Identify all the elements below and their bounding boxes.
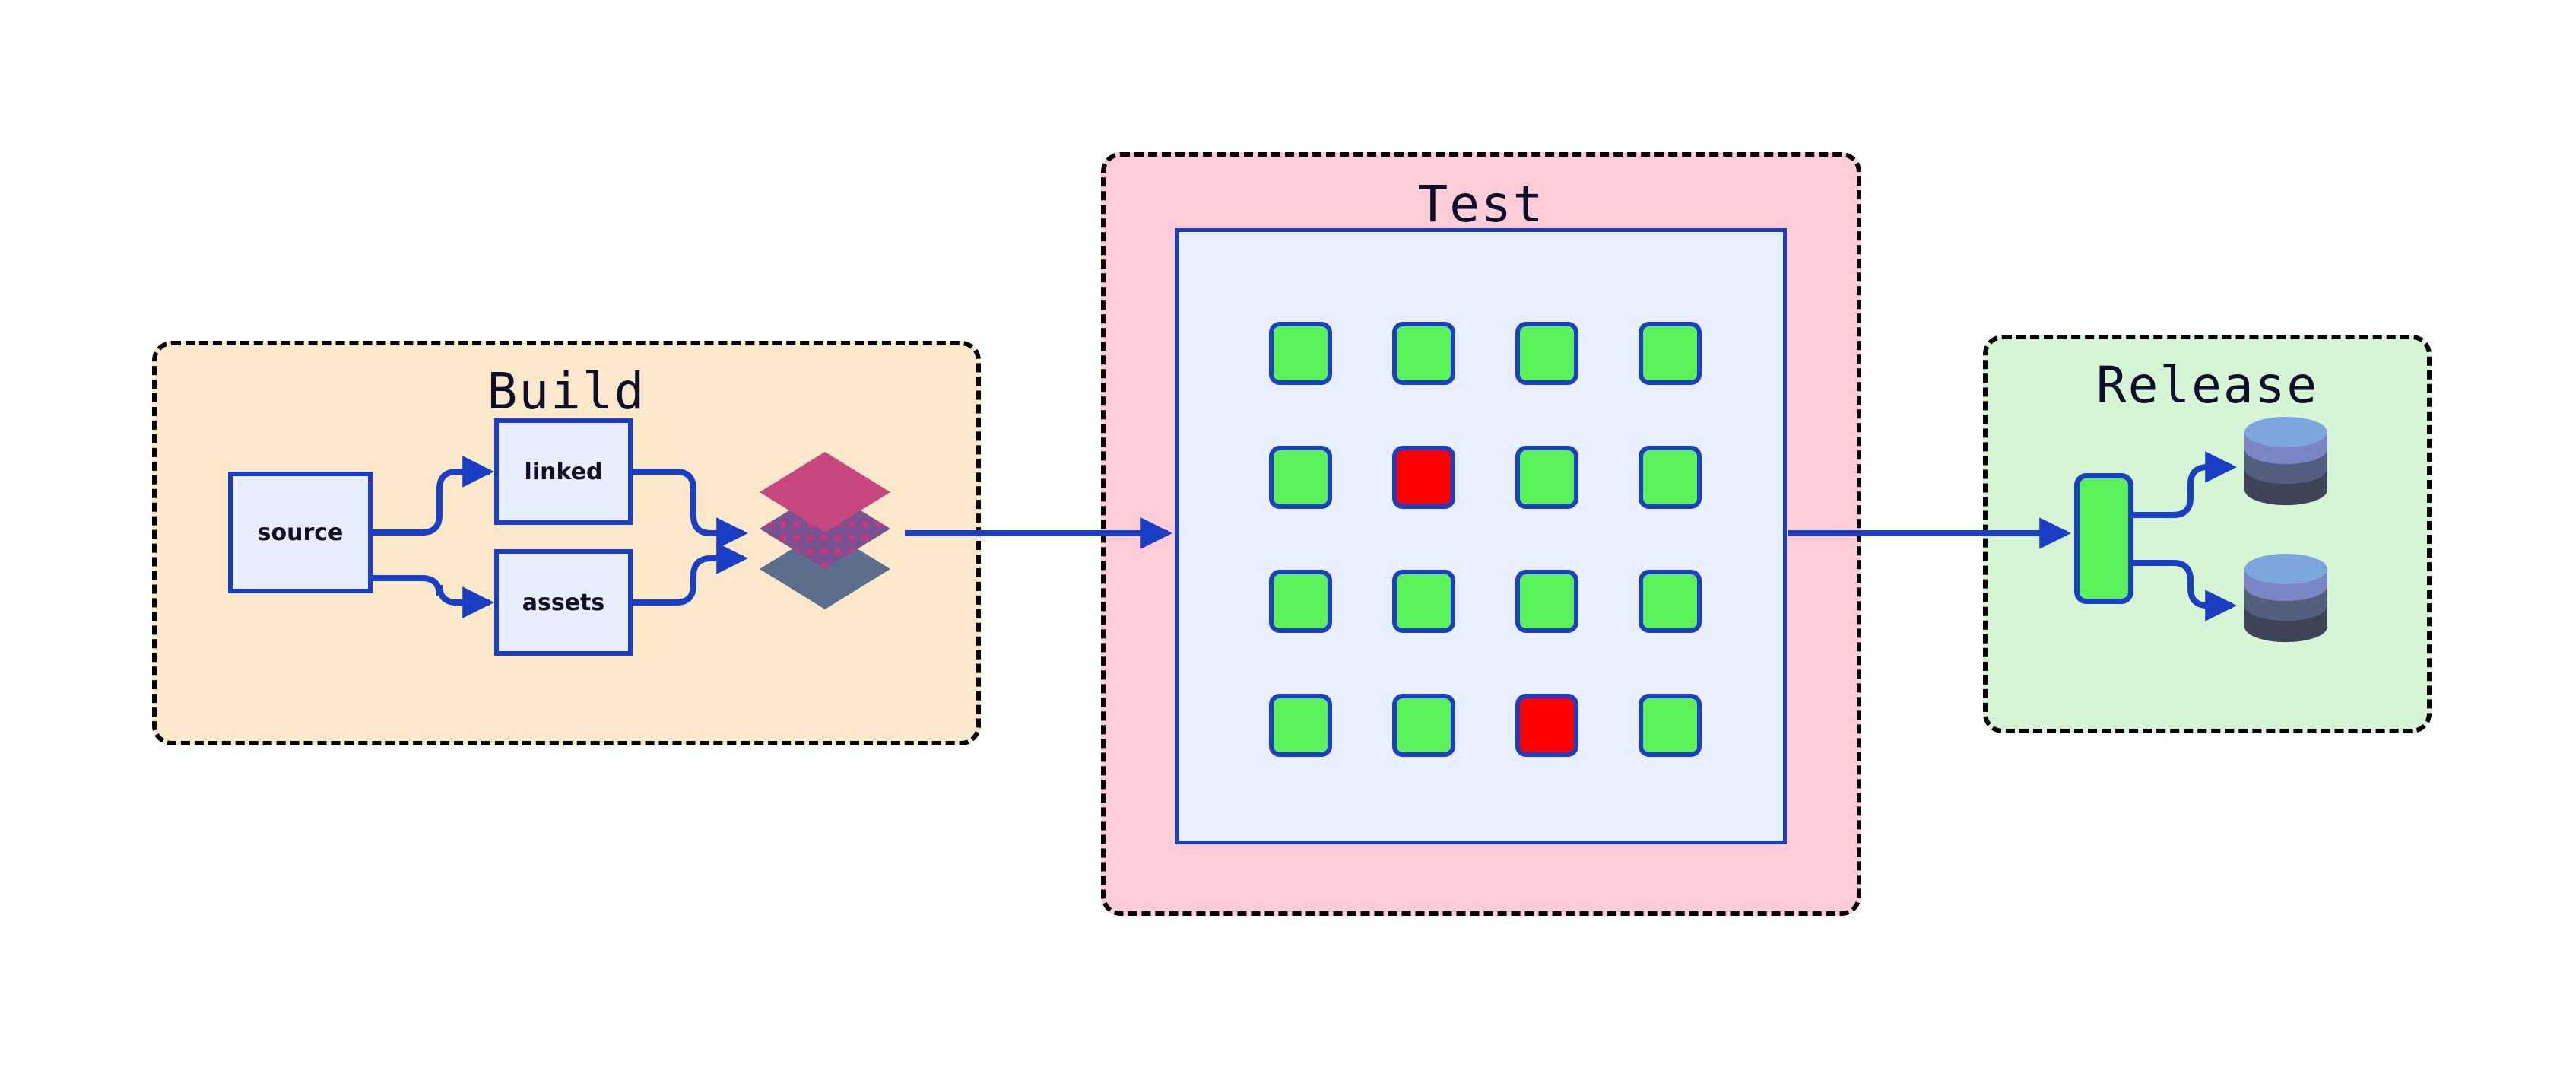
stage-release: Release	[1983, 335, 2432, 733]
node-assets[interactable]: assets	[494, 549, 633, 656]
node-assets-label: assets	[522, 590, 605, 616]
test-cell-pass-r4c2[interactable]	[1392, 694, 1455, 757]
node-source[interactable]: source	[228, 472, 373, 593]
test-cell-pass-r4c4[interactable]	[1639, 694, 1702, 757]
stacked-layers-icon	[749, 449, 901, 612]
database-icon[interactable]	[2238, 411, 2333, 506]
stage-build-title: Build	[157, 362, 976, 421]
test-cell-pass-r3c1[interactable]	[1269, 570, 1332, 633]
test-results-panel	[1175, 228, 1787, 844]
node-linked-label: linked	[525, 459, 603, 485]
test-cell-pass-r3c4[interactable]	[1639, 570, 1702, 633]
test-cell-pass-r3c3[interactable]	[1515, 570, 1578, 633]
node-source-label: source	[258, 520, 344, 546]
diagram-canvas: Build source linked assets Test	[0, 0, 2576, 1068]
test-cell-pass-r1c3[interactable]	[1515, 322, 1578, 385]
test-cell-pass-r2c1[interactable]	[1269, 446, 1332, 509]
test-cell-pass-r2c3[interactable]	[1515, 446, 1578, 509]
test-cell-pass-r4c1[interactable]	[1269, 694, 1332, 757]
test-cell-pass-r2c4[interactable]	[1639, 446, 1702, 509]
test-results-grid	[1269, 322, 1702, 757]
test-cell-fail-r2c2[interactable]	[1392, 446, 1455, 509]
test-cell-pass-r1c1[interactable]	[1269, 322, 1332, 385]
stage-test-title: Test	[1106, 175, 1857, 234]
database-icon[interactable]	[2238, 548, 2333, 643]
stage-release-title: Release	[1988, 356, 2427, 415]
test-cell-fail-r4c3[interactable]	[1515, 694, 1578, 757]
test-cell-pass-r3c2[interactable]	[1392, 570, 1455, 633]
test-cell-pass-r1c4[interactable]	[1639, 322, 1702, 385]
node-linked[interactable]: linked	[494, 418, 633, 525]
test-cell-pass-r1c2[interactable]	[1392, 322, 1455, 385]
release-artifact-bar[interactable]	[2074, 473, 2133, 604]
